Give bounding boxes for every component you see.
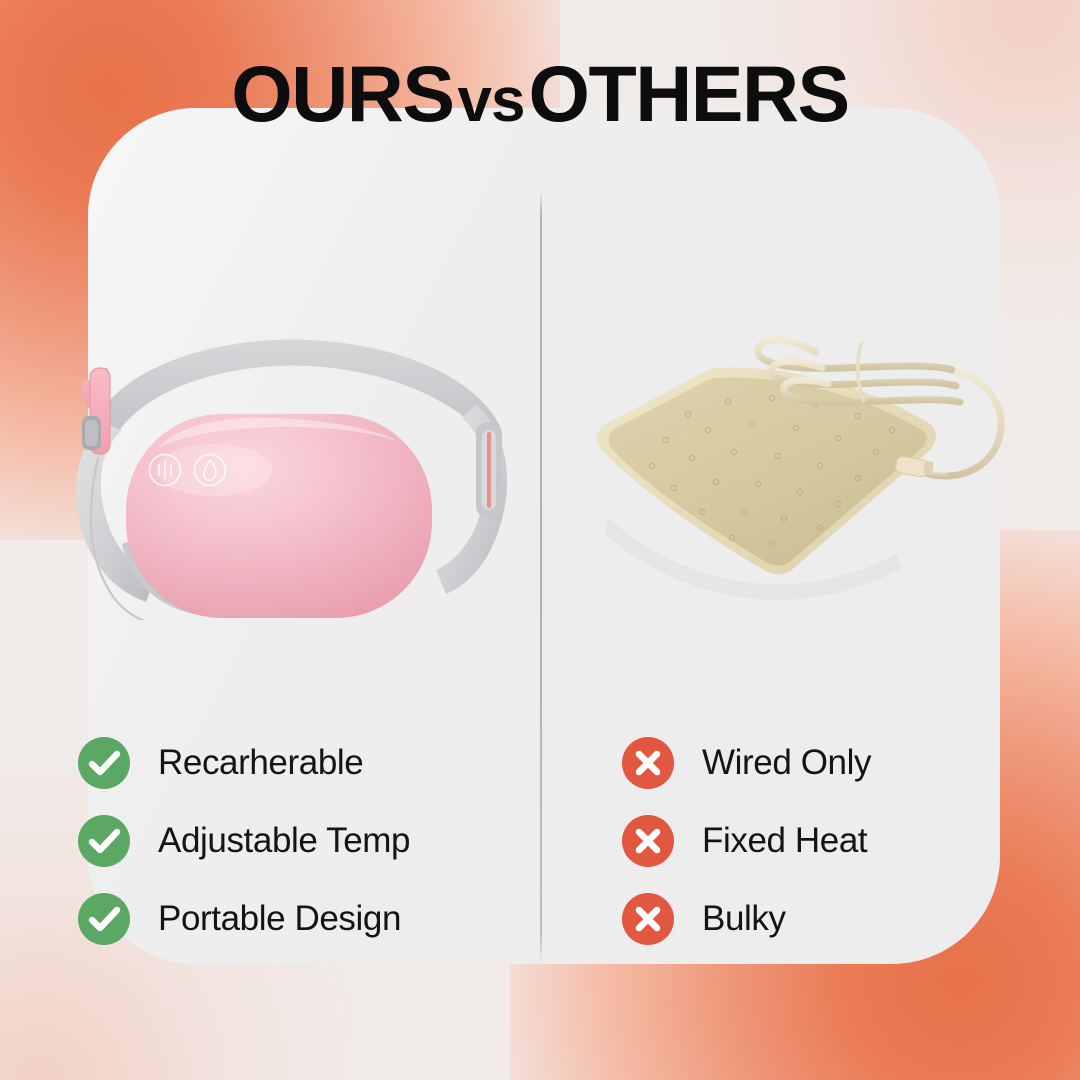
product-image-heating-pad — [566, 318, 1036, 630]
feature-label: Portable Design — [158, 899, 401, 939]
feature-label: Wired Only — [702, 743, 871, 783]
heating-belt-illustration — [38, 330, 524, 620]
title-others: OTHERS — [529, 49, 849, 138]
page-title: OURSvsOTHERS — [0, 54, 1080, 133]
feature-row: Adjustable Temp — [78, 802, 410, 880]
title-ours: OURS — [231, 49, 453, 138]
feature-row: Recarherable — [78, 724, 410, 802]
feature-list-others: Wired Only Fixed Heat Bulky — [622, 724, 871, 958]
feature-label: Recarherable — [158, 743, 363, 783]
feature-label: Bulky — [702, 899, 786, 939]
feature-row: Wired Only — [622, 724, 871, 802]
column-divider — [540, 190, 542, 965]
feature-label: Fixed Heat — [702, 821, 867, 861]
cross-icon — [622, 815, 674, 867]
product-image-heating-belt — [38, 330, 524, 620]
cross-icon — [622, 893, 674, 945]
comparison-infographic: OURSvsOTHERS — [0, 0, 1080, 1080]
check-icon — [78, 737, 130, 789]
feature-list-ours: Recarherable Adjustable Temp Portable De… — [78, 724, 410, 958]
cross-icon — [622, 737, 674, 789]
feature-row: Bulky — [622, 880, 871, 958]
heating-pad-illustration — [566, 318, 1036, 630]
feature-label: Adjustable Temp — [158, 821, 410, 861]
feature-row: Portable Design — [78, 880, 410, 958]
check-icon — [78, 815, 130, 867]
title-vs: vs — [454, 66, 529, 135]
check-icon — [78, 893, 130, 945]
feature-row: Fixed Heat — [622, 802, 871, 880]
